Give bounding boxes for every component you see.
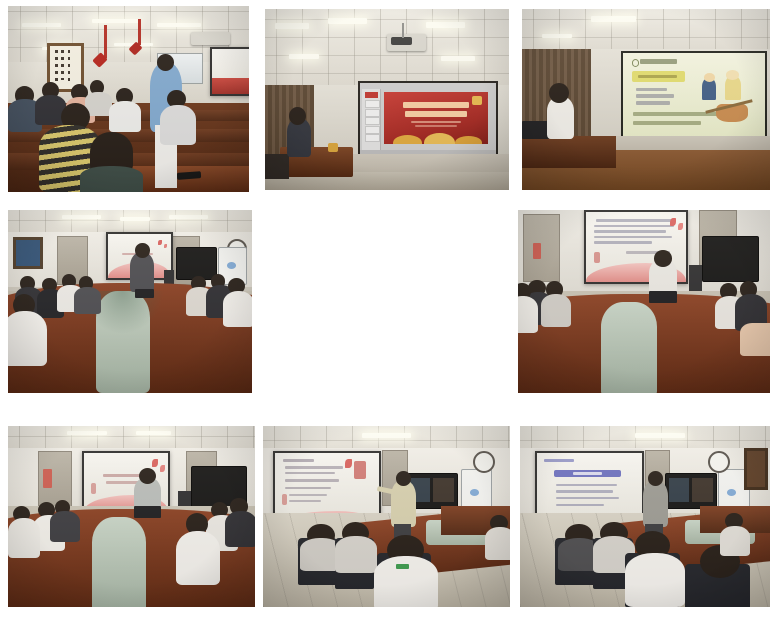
photo-9-scene: [520, 426, 770, 607]
ppt-slide-canvas: [384, 92, 488, 144]
student-body: [109, 101, 140, 133]
slide-gold-decor: [424, 133, 455, 144]
photo-lecture-hall[interactable]: Lecture hall with male speaker in blue s…: [8, 6, 249, 192]
slide-paragraph-text: [596, 219, 673, 222]
photo-conference-room-text-slide[interactable]: Conference room, presenter in white stan…: [518, 210, 770, 393]
slide-bullet: [285, 487, 331, 489]
smartphone: [176, 171, 201, 180]
slide-floral-motif: [678, 223, 683, 230]
slide-cartoon-figure: [725, 76, 741, 100]
slide-cartoon-head: [704, 73, 715, 82]
photo-red-slide-presentation[interactable]: Projector screen showing red PowerPoint …: [265, 9, 509, 190]
slide-yellow-banner: [632, 71, 686, 82]
ceiling-light: [542, 34, 572, 38]
slide-seal: [594, 252, 600, 263]
participant-body-back: [335, 536, 377, 572]
slide-gold-decor: [393, 135, 422, 144]
presenter-head: [139, 468, 156, 484]
participant-body-back-foreground: [625, 553, 685, 607]
ceiling-light: [92, 19, 140, 23]
ceiling-light: [22, 23, 61, 27]
slide-blue-banner: [554, 470, 621, 478]
ceiling-light: [169, 215, 208, 219]
red-wall-marker: [43, 469, 53, 487]
participant-body-foreground: [8, 311, 47, 366]
table-glass-inlay: [601, 302, 656, 394]
slide-bullet: [636, 94, 674, 97]
projection-screen: [210, 47, 249, 96]
photo-1-scene: [8, 6, 249, 192]
slide-body-text: [633, 121, 701, 125]
ceiling-light: [635, 433, 685, 438]
laptop: [134, 506, 161, 519]
slide-bullet: [556, 504, 604, 506]
slide-seal: [282, 494, 287, 506]
laptop: [135, 289, 155, 298]
photo-3-scene: [522, 9, 770, 190]
podium: [522, 136, 616, 169]
photo-2-scene: [265, 9, 509, 190]
slide-floral-motif: [670, 218, 676, 226]
participant-body-foreground: [176, 531, 220, 585]
presenter-head: [135, 243, 150, 258]
slide-heading-text: [544, 459, 573, 462]
participant-body: [541, 294, 571, 327]
slide-bullet: [285, 472, 335, 474]
table-glass-inlay: [92, 517, 146, 608]
slide-bullet: [556, 497, 619, 499]
slide-banner-text: [638, 75, 677, 78]
slide-subtitle-text: [415, 125, 457, 127]
ceiling: [265, 9, 509, 92]
photo-grid-page: Lecture hall with male speaker in blue s…: [0, 0, 778, 622]
student-body-foreground: [80, 166, 143, 192]
slide-bullet: [556, 490, 613, 492]
ceiling-grid: [265, 9, 509, 92]
table-object: [328, 143, 338, 152]
participant-body: [518, 296, 538, 333]
framed-picture: [13, 237, 43, 269]
participant-body: [8, 518, 40, 558]
presenter-person: [391, 480, 416, 527]
slide-floral-motif: [152, 459, 158, 467]
ceiling-light: [426, 22, 465, 28]
ceiling-light: [275, 23, 309, 29]
slide-paragraph-text: [594, 230, 667, 233]
presenter-head: [654, 250, 672, 266]
slide-paragraph-text: [594, 225, 675, 228]
participant-body: [485, 527, 510, 560]
ceiling-light: [136, 431, 171, 435]
participant-body: [720, 526, 750, 557]
photo-6-scene: [518, 210, 770, 393]
ceiling-light: [120, 217, 149, 221]
laptop: [649, 291, 677, 304]
slide-paragraph-text: [594, 236, 673, 239]
ceiling-light: [591, 16, 636, 22]
ceiling-light: [328, 18, 367, 24]
slide-bullet: [636, 88, 667, 91]
presenter-head: [648, 471, 663, 485]
slide-header-icon: [632, 59, 640, 67]
podium-laptop: [522, 121, 549, 139]
projection-screen-red-slide: [358, 81, 499, 157]
slide-subtitle-text: [411, 121, 461, 123]
projection-screen-yellow-slide: [621, 51, 766, 140]
participant-body: [225, 511, 255, 547]
ceiling-light: [441, 56, 475, 61]
photo-meeting-room-side-view-bullets[interactable]: Side view of meeting room; presenter in …: [263, 426, 510, 607]
projector-mount: [402, 23, 404, 37]
slide-bullet: [289, 500, 320, 502]
participant-body: [50, 511, 80, 542]
ceiling-light: [362, 433, 411, 438]
ceiling-light: [62, 215, 101, 219]
chinese-knot-decor: [138, 19, 141, 45]
slide-bullet: [556, 484, 617, 486]
photo-7-scene: [8, 426, 255, 607]
ceiling-light: [67, 431, 107, 435]
ppt-thumbnail-pane: [362, 89, 381, 150]
slide-title-text: [403, 102, 469, 108]
red-wall-marker: [533, 243, 541, 259]
photo-meeting-room-side-view-blue-slide[interactable]: Side view of meeting room; presenter sta…: [520, 426, 770, 607]
wall-tv: [702, 236, 759, 282]
slide-badge: [472, 96, 482, 104]
slide-seal: [91, 483, 96, 493]
ceiling-light: [157, 23, 200, 27]
photo-8-scene: [263, 426, 510, 607]
photo-4-scene: [8, 210, 252, 393]
slide-gold-decor: [455, 136, 482, 144]
door: [523, 214, 560, 282]
slide-header-text: [640, 59, 677, 63]
slide-heading-text: [283, 459, 314, 462]
slide-floral-motif: [158, 240, 162, 245]
wall-tv: [665, 473, 717, 509]
slide-bullet: [289, 494, 326, 496]
participant-body: [223, 291, 252, 328]
slide-bullet: [636, 101, 670, 104]
slide-floral-motif: [164, 244, 167, 248]
ceiling-light: [289, 54, 318, 59]
participant-arm-foreground: [740, 323, 770, 356]
participant-body: [74, 287, 101, 314]
slide-paragraph-text: [594, 241, 652, 244]
presenter-person: [643, 480, 668, 527]
slide-floral-motif: [160, 465, 165, 472]
photo-conference-room-title-slide[interactable]: Conference room, female presenter at lap…: [8, 426, 255, 607]
student-body: [160, 105, 196, 146]
slide-bullet: [285, 466, 343, 468]
photo-yellow-slide-presentation[interactable]: Projector screen showing yellow-green sl…: [522, 9, 770, 190]
framed-picture: [744, 448, 768, 490]
chinese-knot-decor: [104, 25, 107, 58]
ceiling-projector: [387, 34, 426, 50]
shirt-logo: [396, 564, 408, 569]
presenter-person: [130, 252, 154, 292]
slide-floral-motif: [345, 459, 351, 468]
wall-tv: [176, 247, 217, 280]
slide-seal-characters: [354, 461, 366, 480]
podium-cabinet: [265, 154, 289, 179]
slide-bullet: [285, 479, 339, 481]
photo-conference-room-wide[interactable]: Conference room with large polished wood…: [8, 210, 252, 393]
slide-title-text: [405, 111, 467, 117]
slide-cartoon-head: [726, 70, 739, 79]
empty-grid-cell: Empty cell — no photo: [260, 210, 510, 393]
presenter-head: [396, 471, 411, 485]
projector: [191, 32, 230, 45]
